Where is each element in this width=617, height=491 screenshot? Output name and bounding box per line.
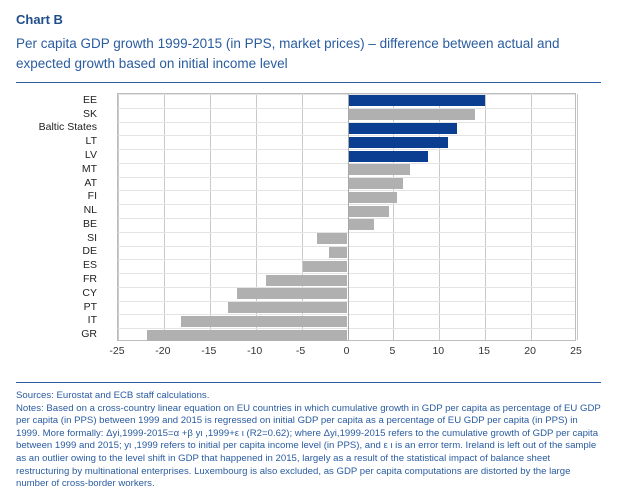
category-label-sk: SK xyxy=(83,108,97,120)
category-axis: EESKBaltic StatesLTLVMTATFINLBESIDEESFRC… xyxy=(16,93,101,341)
category-label-gr: GR xyxy=(81,328,97,340)
category-label-cy: CY xyxy=(82,287,97,299)
gridline-horizontal xyxy=(118,218,575,219)
gridline-horizontal xyxy=(118,135,575,136)
bar-at xyxy=(348,178,403,189)
gridline-vertical xyxy=(485,94,486,340)
x-tick-label: 20 xyxy=(524,345,536,357)
bar-gr xyxy=(147,330,347,341)
notes-text: Notes: Based on a cross-country linear e… xyxy=(16,403,601,491)
x-tick-label: 15 xyxy=(478,345,490,357)
x-tick-label: 25 xyxy=(570,345,582,357)
category-label-fi: FI xyxy=(88,190,97,202)
category-label-es: ES xyxy=(83,259,97,271)
category-label-lv: LV xyxy=(85,149,97,161)
gridline-horizontal xyxy=(118,108,575,109)
category-label-it: IT xyxy=(88,314,97,326)
gridline-vertical xyxy=(531,94,532,340)
gridline-horizontal xyxy=(118,204,575,205)
category-label-at: AT xyxy=(84,177,97,189)
x-axis: -25-20-15-10-50510152025 xyxy=(117,343,576,363)
x-tick-label: -25 xyxy=(109,345,124,357)
bar-it xyxy=(181,316,347,327)
x-tick-label: -10 xyxy=(247,345,262,357)
gridline-vertical xyxy=(210,94,211,340)
gridline-vertical xyxy=(118,94,119,340)
category-label-fr: FR xyxy=(83,273,97,285)
gridline-vertical xyxy=(164,94,165,340)
zero-baseline xyxy=(348,94,349,340)
bar-fi xyxy=(348,192,398,203)
category-label-si: SI xyxy=(87,232,97,244)
chart-label: Chart B xyxy=(16,12,601,28)
category-label-mt: MT xyxy=(82,163,97,175)
bar-baltic-states xyxy=(348,123,457,134)
gridline-horizontal xyxy=(118,163,575,164)
bar-mt xyxy=(348,164,410,175)
bar-fr xyxy=(266,275,348,286)
x-tick-label: -15 xyxy=(201,345,216,357)
bar-lt xyxy=(348,137,449,148)
footer-divider xyxy=(16,382,601,383)
gridline-horizontal xyxy=(118,149,575,150)
category-label-ee: EE xyxy=(83,94,97,106)
category-label-de: DE xyxy=(82,245,97,257)
bar-sk xyxy=(348,109,476,120)
bar-si xyxy=(317,233,347,244)
x-tick-label: -20 xyxy=(155,345,170,357)
bar-nl xyxy=(348,206,389,217)
bar-es xyxy=(303,261,348,272)
category-label-pt: PT xyxy=(84,301,97,313)
category-label-nl: NL xyxy=(84,204,97,216)
title-divider xyxy=(16,82,601,83)
chart-title: Per capita GDP growth 1999-2015 (in PPS,… xyxy=(16,34,596,74)
plot-canvas xyxy=(117,93,576,341)
x-tick-label: 0 xyxy=(344,345,350,357)
bar-cy xyxy=(237,288,347,299)
bar-be xyxy=(348,219,375,230)
footer-block: Sources: Eurostat and ECB staff calculat… xyxy=(16,382,601,491)
sources-text: Sources: Eurostat and ECB staff calculat… xyxy=(16,390,601,403)
bar-lv xyxy=(348,151,429,162)
bar-de xyxy=(329,247,347,258)
gridline-horizontal xyxy=(118,177,575,178)
bar-ee xyxy=(348,95,486,106)
gridline-horizontal xyxy=(118,122,575,123)
x-tick-label: 5 xyxy=(389,345,395,357)
category-label-lt: LT xyxy=(86,135,97,147)
gridline-horizontal xyxy=(118,94,575,95)
x-tick-label: 10 xyxy=(432,345,444,357)
chart-plot-area: EESKBaltic StatesLTLVMTATFINLBESIDEESFRC… xyxy=(16,93,601,365)
category-label-be: BE xyxy=(83,218,97,230)
category-label-baltic-states: Baltic States xyxy=(39,121,97,133)
chart-page: Chart B Per capita GDP growth 1999-2015 … xyxy=(0,0,617,489)
x-tick-label: -5 xyxy=(296,345,305,357)
gridline-vertical xyxy=(577,94,578,340)
gridline-horizontal xyxy=(118,190,575,191)
bar-pt xyxy=(228,302,347,313)
